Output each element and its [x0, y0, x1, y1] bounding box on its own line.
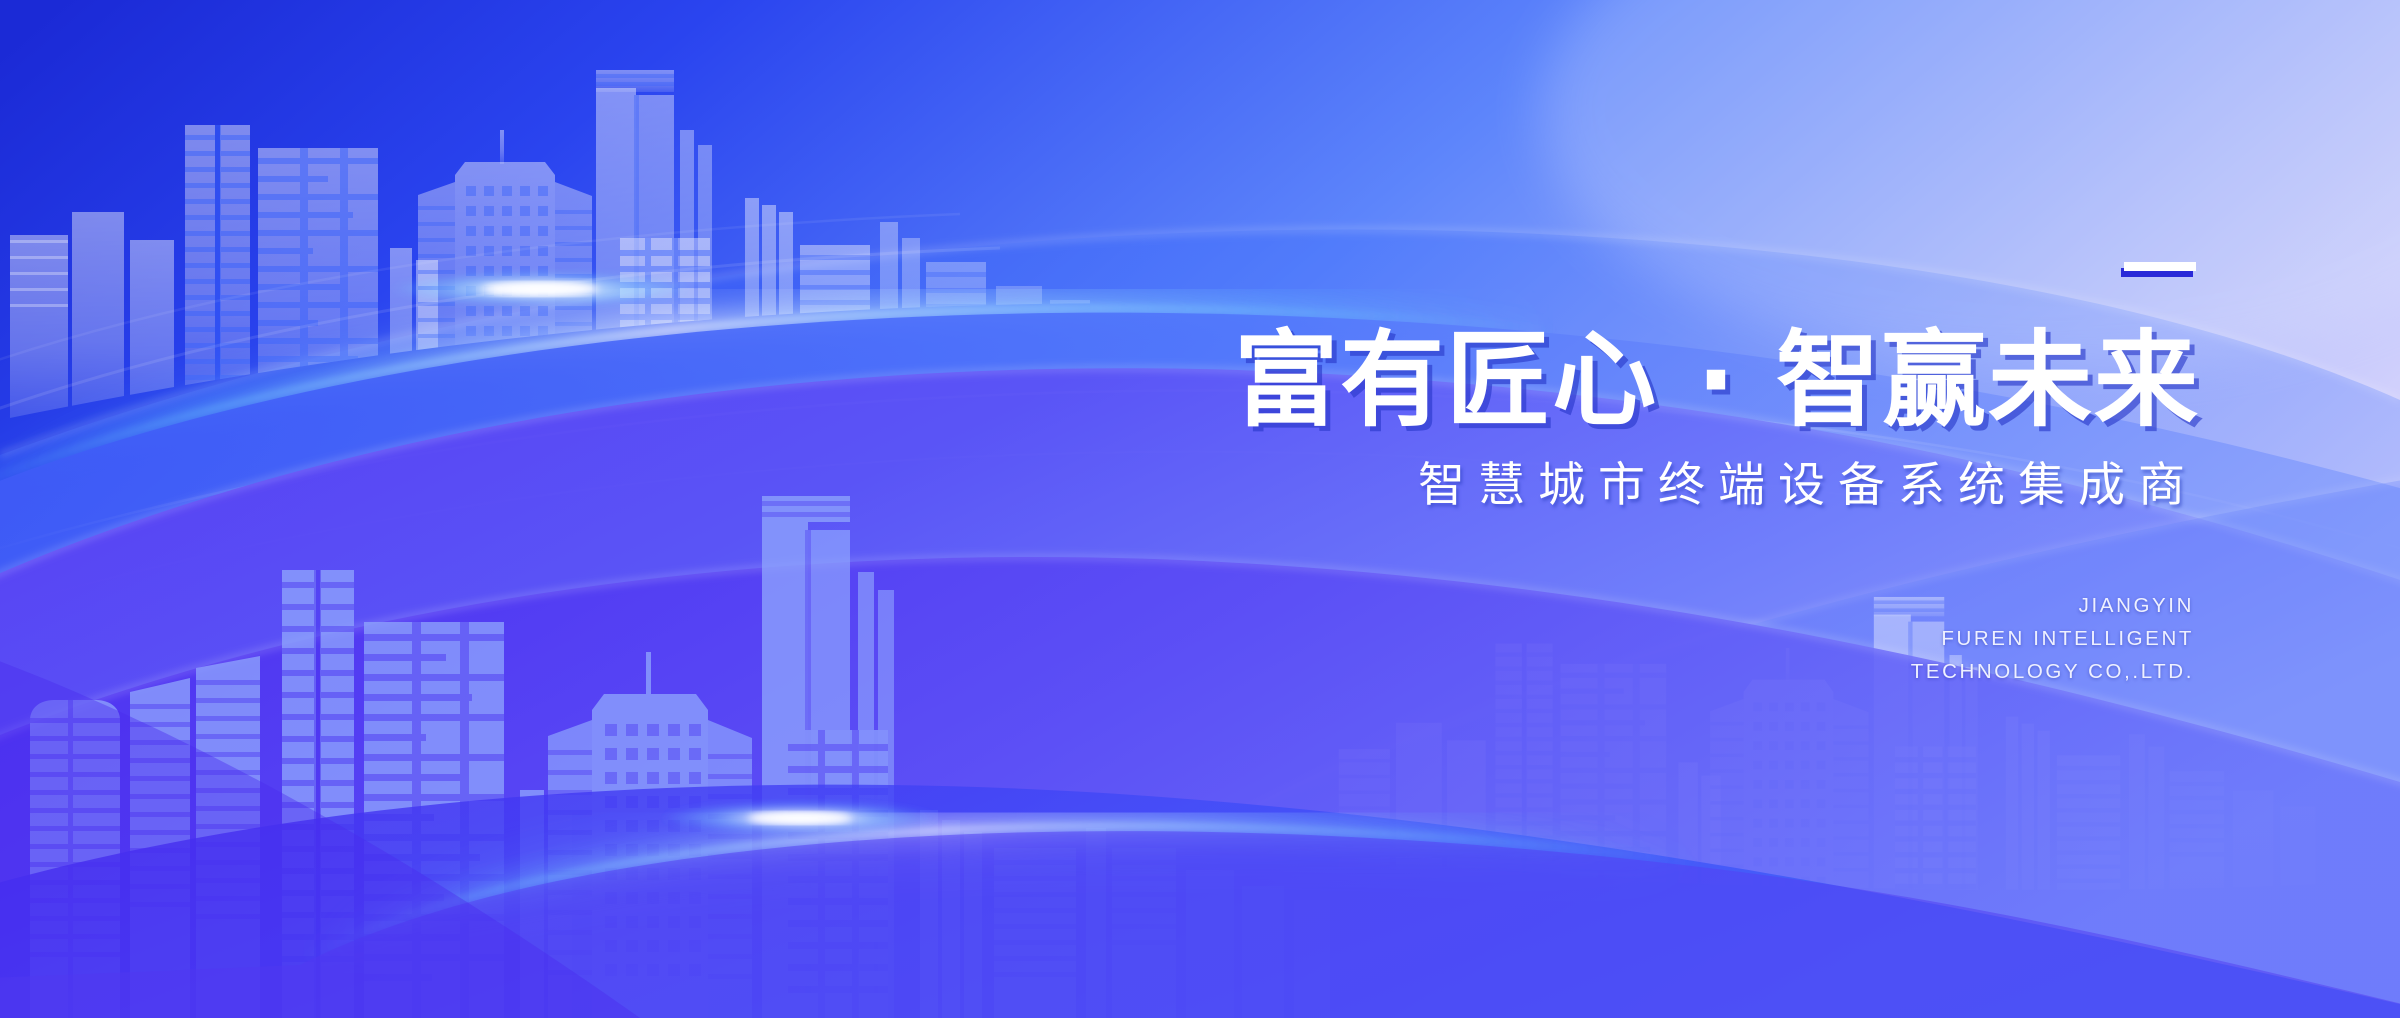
sub-title-text: 智慧城市终端设备系统集成商 [1418, 458, 2198, 513]
company-name: JIANGYIN FUREN INTELLIGENT TECHNOLOGY CO… [1000, 589, 2200, 689]
company-line-3: TECHNOLOGY CO,.LTD. [1000, 655, 2194, 688]
decorative-dash-icon [2124, 262, 2196, 271]
page-subtitle: 智慧城市终端设备系统集成商 [1000, 458, 2200, 514]
headline-block: 富有匠心 · 智赢未来 智慧城市终端设备系统集成商 JIANGYIN FUREN… [1000, 258, 2200, 688]
main-title-text: 富有匠心 · 智赢未来 [1234, 319, 2200, 441]
promotional-banner: 富有匠心 · 智赢未来 智慧城市终端设备系统集成商 JIANGYIN FUREN… [0, 0, 2400, 1018]
company-line-2: FUREN INTELLIGENT [1000, 622, 2194, 655]
company-line-1: JIANGYIN [1000, 589, 2194, 622]
page-title: 富有匠心 · 智赢未来 [1000, 324, 2200, 436]
